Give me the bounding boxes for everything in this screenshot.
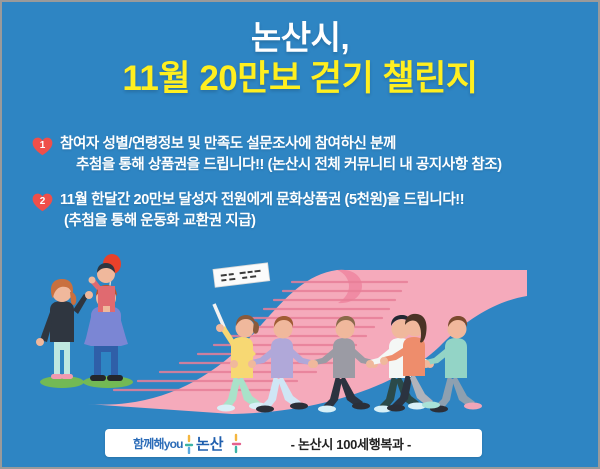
nonsan-logo-mark: 논산 [185, 432, 243, 454]
title-line-2: 11월 20만보 걷기 챌린지 [2, 60, 598, 98]
bullet-2-line-2: (추첨을 통해 운동화 교환권 지급) [32, 211, 588, 232]
poster-title: 논산시, 11월 20만보 걷기 챌린지 [2, 20, 598, 97]
bullet-1-line-1: 참여자 성별/연령정보 및 만족도 설문조사에 참여하신 분께 [32, 134, 588, 155]
illustration-stage [2, 254, 600, 419]
heart-badge-icon: 2 [32, 193, 53, 212]
logo-slogan-text: 함께해you [133, 435, 183, 452]
department-label: - 논산시 100세행복과 - [291, 434, 411, 453]
heart-badge-number: 2 [32, 193, 53, 210]
heart-badge-icon: 1 [32, 137, 53, 156]
family-group-illustration [36, 254, 133, 388]
bullet-2-line-1: 11월 한달간 20만보 달성자 전원에게 문화상품권 (5천원)을 드립니다!… [32, 190, 588, 211]
bullet-list: 1 참여자 성별/연령정보 및 만족도 설문조사에 참여하신 분께 추첨을 통해… [32, 134, 588, 246]
bullet-item-2: 2 11월 한달간 20만보 달성자 전원에게 문화상품권 (5천원)을 드립니… [32, 190, 588, 232]
title-line-1: 논산시, [2, 20, 598, 56]
footer-panel: 함께해you 논산 - 논산시 100세행복과 - [105, 429, 482, 457]
city-logo: 함께해you 논산 [133, 432, 243, 454]
bullet-item-1: 1 참여자 성별/연령정보 및 만족도 설문조사에 참여하신 분께 추첨을 통해… [32, 134, 588, 176]
poster-root: 논산시, 11월 20만보 걷기 챌린지 1 참여자 성별/연령정보 및 만족도… [0, 0, 600, 469]
bullet-1-line-2: 추첨을 통해 상품권을 드립니다!! (논산시 전체 커뮤니티 내 공지사항 참… [32, 155, 588, 176]
svg-text:논산: 논산 [196, 436, 224, 453]
heart-badge-number: 1 [32, 137, 53, 154]
